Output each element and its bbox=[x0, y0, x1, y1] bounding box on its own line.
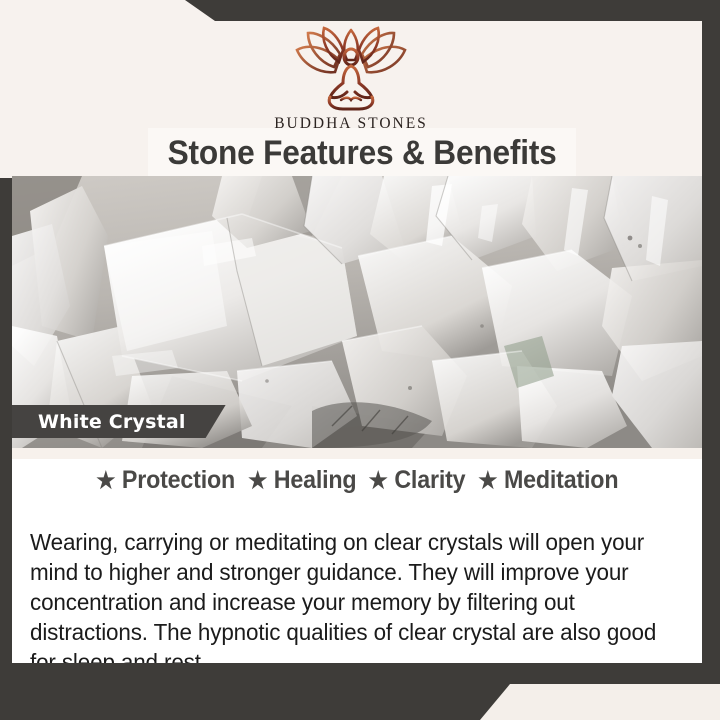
description-paragraph: Wearing, carrying or meditating on clear… bbox=[30, 527, 660, 677]
benefit-item: ★ Clarity bbox=[368, 466, 465, 495]
star-icon: ★ bbox=[96, 469, 115, 492]
benefit-label: Protection bbox=[122, 466, 235, 495]
benefit-item: ★ Meditation bbox=[478, 466, 618, 495]
benefit-item: ★ Healing bbox=[248, 466, 356, 495]
benefits-row: ★ Protection ★ Healing ★ Clarity ★ Medit… bbox=[12, 466, 702, 495]
star-icon: ★ bbox=[478, 469, 497, 492]
benefit-label: Clarity bbox=[394, 466, 465, 495]
star-icon: ★ bbox=[368, 469, 387, 492]
benefit-item: ★ Protection bbox=[96, 466, 235, 495]
cream-separator bbox=[12, 448, 702, 459]
crystal-name-text: White Crystal bbox=[38, 411, 186, 433]
benefit-label: Healing bbox=[274, 466, 357, 495]
infographic-page: BUDDHA STONES Stone Features & Benefits bbox=[0, 0, 720, 720]
star-icon: ★ bbox=[248, 469, 267, 492]
benefit-label: Meditation bbox=[504, 466, 618, 495]
footer-cream-wedge bbox=[0, 684, 720, 720]
brand-logo: BUDDHA STONES bbox=[0, 26, 702, 133]
title-banner: Stone Features & Benefits bbox=[148, 128, 576, 178]
content-card: ★ Protection ★ Healing ★ Clarity ★ Medit… bbox=[12, 459, 702, 663]
page-title: Stone Features & Benefits bbox=[168, 134, 557, 173]
lotus-meditation-icon bbox=[277, 26, 425, 112]
footer-band bbox=[0, 663, 720, 720]
crystal-name-badge: White Crystal bbox=[12, 405, 226, 438]
